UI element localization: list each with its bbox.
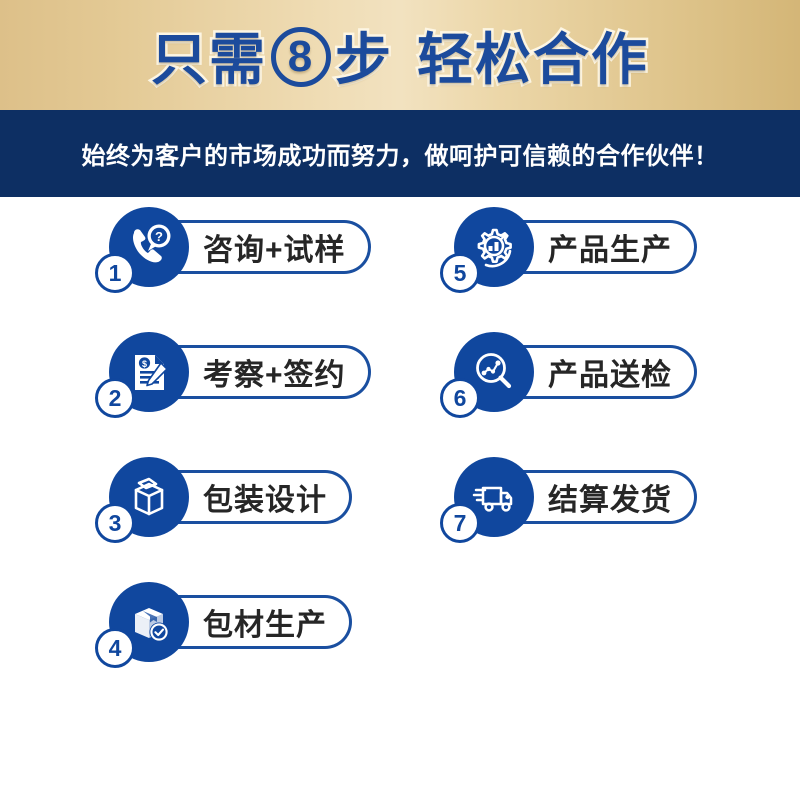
svg-text:?: ? (155, 229, 163, 244)
step-7-label-pill[interactable]: 结算发货 (514, 470, 697, 524)
steps-column-left: ? 1 咨询+试样 (95, 197, 455, 697)
step-item-3[interactable]: 3 包装设计 (95, 447, 455, 572)
step-4-icon-wrap: 4 (95, 572, 187, 672)
step-item-5[interactable]: 5 产品生产 (440, 197, 800, 322)
step-5-label-pill[interactable]: 产品生产 (514, 220, 697, 274)
step-1-number-badge: 1 (95, 253, 135, 293)
step-1-icon-wrap: ? 1 (95, 197, 187, 297)
step-1-label-pill[interactable]: 咨询+试样 (169, 220, 371, 274)
title-circled-number: 8 (271, 27, 331, 87)
step-3-label: 包装设计 (203, 475, 327, 519)
step-4-label-pill[interactable]: 包材生产 (169, 595, 352, 649)
step-6-number-badge: 6 (440, 378, 480, 418)
step-7-icon-wrap: 7 (440, 447, 532, 547)
step-5-icon-wrap: 5 (440, 197, 532, 297)
step-item-6[interactable]: 6 产品送检 (440, 322, 800, 447)
step-item-2[interactable]: $ 2 考察+签约 (95, 322, 455, 447)
step-4-label: 包材生产 (203, 600, 327, 644)
step-5-number-badge: 5 (440, 253, 480, 293)
header-gold-band: 只需8步轻松合作 (0, 0, 800, 110)
step-2-label: 考察+签约 (203, 350, 346, 394)
step-2-label-pill[interactable]: 考察+签约 (169, 345, 371, 399)
step-7-label: 结算发货 (548, 475, 672, 519)
step-2-icon-wrap: $ 2 (95, 322, 187, 422)
step-7-number-badge: 7 (440, 503, 480, 543)
step-3-label-pill[interactable]: 包装设计 (169, 470, 352, 524)
title-part-3: 轻松合作 (417, 15, 649, 96)
step-6-label-pill[interactable]: 产品送检 (514, 345, 697, 399)
step-2-number-badge: 2 (95, 378, 135, 418)
steps-column-right: 5 产品生产 (440, 197, 800, 572)
steps-container: ? 1 咨询+试样 (0, 197, 800, 795)
step-6-icon-wrap: 6 (440, 322, 532, 422)
page-subtitle: 始终为客户的市场成功而努力，做呵护可信赖的合作伙伴！ (82, 136, 719, 171)
step-6-label: 产品送检 (548, 350, 672, 394)
step-1-label: 咨询+试样 (203, 225, 346, 269)
step-3-icon-wrap: 3 (95, 447, 187, 547)
step-item-7[interactable]: 7 结算发货 (440, 447, 800, 572)
page-title: 只需8步轻松合作 (0, 0, 800, 110)
step-item-1[interactable]: ? 1 咨询+试样 (95, 197, 455, 322)
step-4-number-badge: 4 (95, 628, 135, 668)
step-5-label: 产品生产 (548, 225, 672, 269)
svg-text:$: $ (142, 359, 147, 369)
title-part-2: 步 (335, 15, 393, 96)
title-part-1: 只需 (151, 15, 267, 96)
step-3-number-badge: 3 (95, 503, 135, 543)
header-navy-band: 始终为客户的市场成功而努力，做呵护可信赖的合作伙伴！ (0, 110, 800, 197)
step-item-4[interactable]: 4 包材生产 (95, 572, 455, 697)
